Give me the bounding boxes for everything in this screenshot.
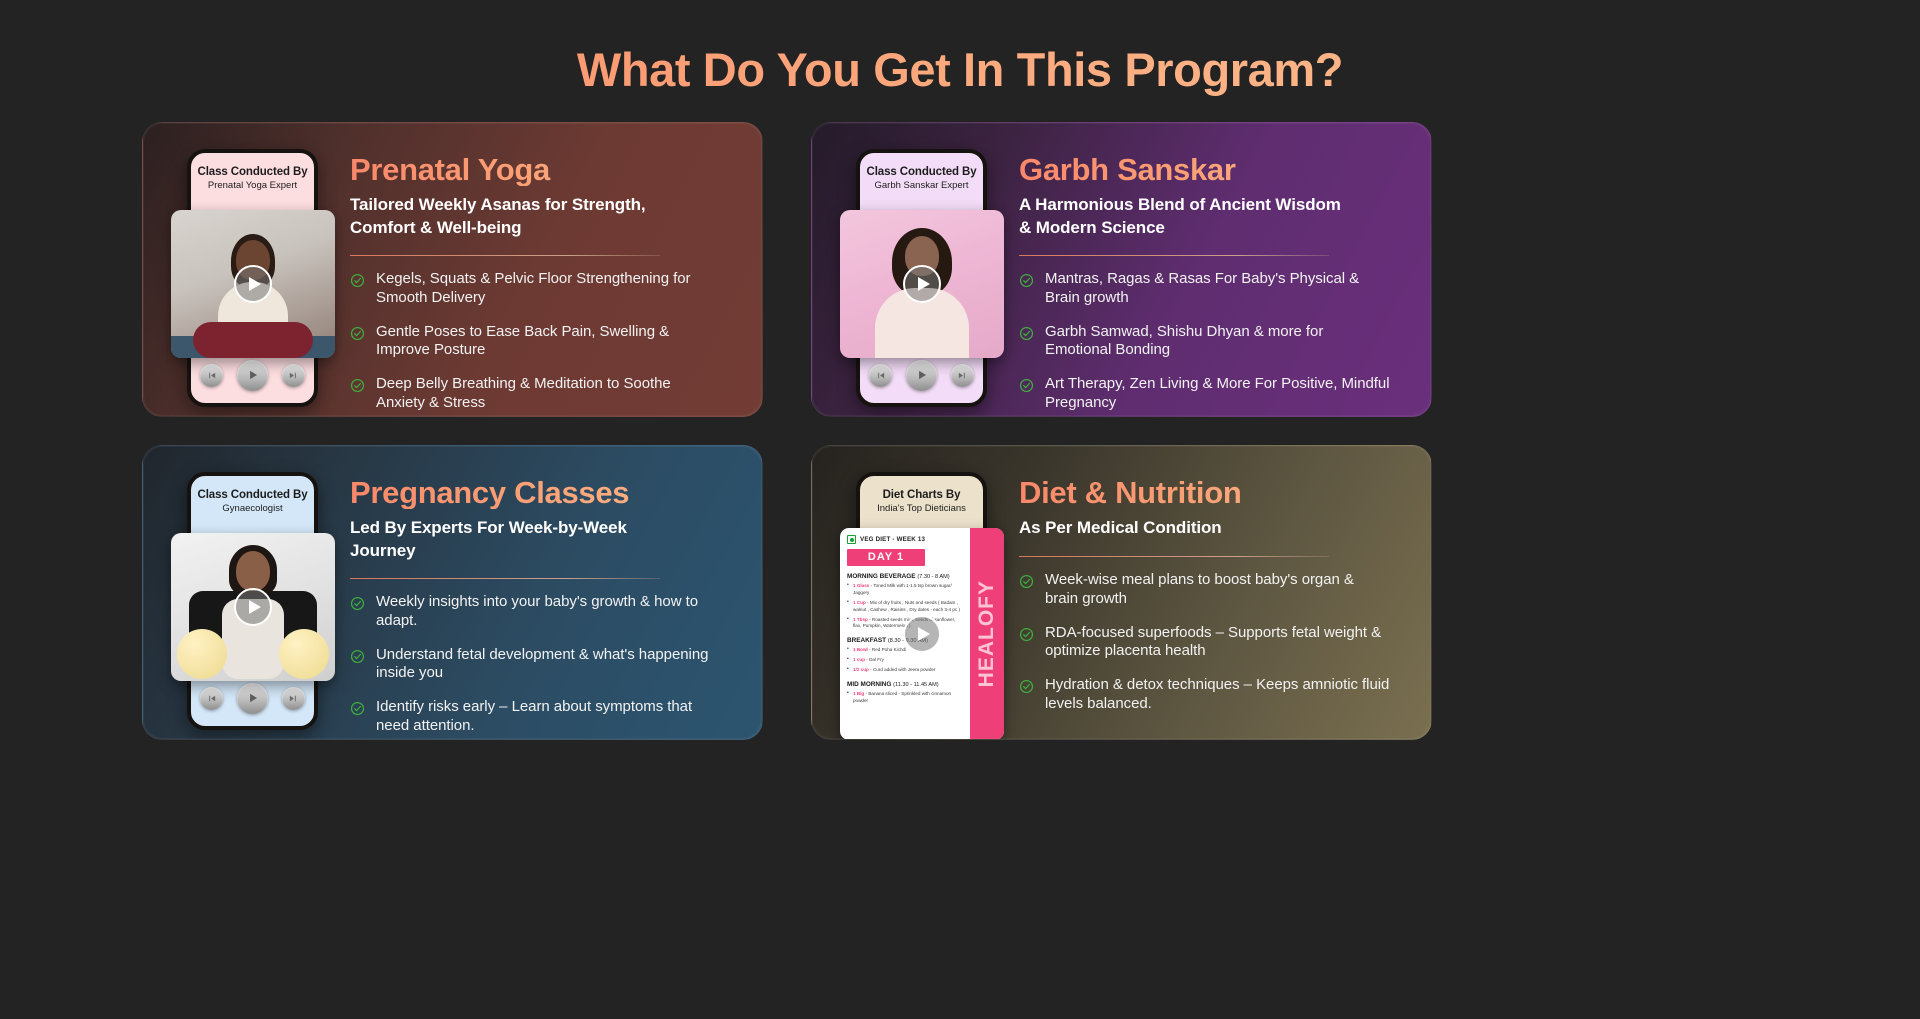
card-subtitle: As Per Medical Condition — [1019, 517, 1349, 539]
phone-header-line1: Class Conducted By — [191, 489, 314, 501]
card-subtitle: Tailored Weekly Asanas for Strength, Com… — [350, 194, 680, 238]
list-item: Week-wise meal plans to boost baby's org… — [1019, 571, 1405, 609]
phone-header-line1: Diet Charts By — [860, 489, 983, 501]
card-diet-nutrition[interactable]: Diet Charts By India's Top Dieticians VE… — [811, 445, 1432, 740]
check-circle-icon — [1019, 378, 1034, 393]
check-circle-icon — [350, 596, 365, 611]
meal-desc: - Red Poha Kichdi — [869, 647, 906, 652]
card-prenatal-yoga[interactable]: Class Conducted By Prenatal Yoga Expert — [142, 122, 763, 417]
meal-qty: 1 Glass — [853, 583, 869, 588]
brand-label: HEALOFY — [975, 580, 999, 687]
card-title: Prenatal Yoga — [350, 153, 736, 186]
play-button-icon[interactable] — [903, 265, 941, 303]
meal-qty: 1 Bowl — [853, 647, 868, 652]
phone-mockup-diet-nutrition: Diet Charts By India's Top Dieticians VE… — [856, 472, 987, 730]
feature-list: Kegels, Squats & Pelvic Floor Strengthen… — [350, 270, 736, 413]
check-circle-icon — [350, 649, 365, 664]
meal-qty: 1 Cup — [853, 600, 866, 605]
card-garbh-sanskar[interactable]: Class Conducted By Garbh Sanskar Expert — [811, 122, 1432, 417]
next-track-icon[interactable] — [282, 364, 305, 387]
phone-header-line1: Class Conducted By — [191, 166, 314, 178]
check-circle-icon — [1019, 679, 1034, 694]
phone-header: Class Conducted By Garbh Sanskar Expert — [860, 153, 983, 191]
figure-head — [236, 551, 270, 591]
meal-qty: 1/2 cup — [853, 667, 869, 672]
meal-qty: 1 Big — [853, 691, 864, 696]
page-title: What Do You Get In This Program? — [0, 0, 1920, 97]
previous-track-icon[interactable] — [200, 364, 223, 387]
card-text-column: Prenatal Yoga Tailored Weekly Asanas for… — [318, 123, 762, 413]
video-thumbnail-prenatal-yoga[interactable] — [171, 210, 335, 358]
media-controls[interactable] — [191, 676, 314, 720]
phone-header-line2: Gynaecologist — [191, 503, 314, 514]
meal-section-time: (7.30 - 8 AM) — [917, 574, 949, 580]
card-subtitle: A Harmonious Blend of Ancient Wisdom & M… — [1019, 194, 1349, 238]
check-circle-icon — [350, 701, 365, 716]
check-circle-icon — [350, 326, 365, 341]
previous-track-icon[interactable] — [200, 687, 223, 710]
list-item: Mantras, Ragas & Rasas For Baby's Physic… — [1019, 270, 1405, 308]
phone-header-line2: Garbh Sanskar Expert — [860, 180, 983, 191]
list-item-label: Garbh Samwad, Shishu Dhyan & more for Em… — [1045, 323, 1390, 361]
meal-section-heading: MORNING BEVERAGE (7.30 - 8 AM) — [847, 573, 964, 580]
list-item: Understand fetal development & what's ha… — [350, 646, 736, 684]
phone-header: Class Conducted By Gynaecologist — [191, 476, 314, 514]
card-pregnancy-classes[interactable]: Class Conducted By Gynaecologist — [142, 445, 763, 740]
anatomical-model-left — [177, 629, 227, 679]
card-text-column: Garbh Sanskar A Harmonious Blend of Anci… — [987, 123, 1431, 413]
list-item-label: Art Therapy, Zen Living & More For Posit… — [1045, 375, 1390, 413]
meal-item: 1/2 cup - Curd added with Jeera powder — [847, 667, 964, 674]
divider — [1019, 255, 1329, 257]
list-item-label: Kegels, Squats & Pelvic Floor Strengthen… — [376, 270, 721, 308]
check-circle-icon — [1019, 627, 1034, 642]
divider — [350, 578, 660, 580]
play-button-icon[interactable] — [234, 265, 272, 303]
check-circle-icon — [1019, 574, 1034, 589]
play-icon[interactable] — [237, 683, 268, 714]
veg-diet-row: VEG DIET - WEEK 13 — [847, 535, 964, 544]
list-item: RDA-focused superfoods – Supports fetal … — [1019, 624, 1405, 662]
meal-section-heading: MID MORNING (11.30 - 11.45 AM) — [847, 681, 964, 688]
list-item-label: Gentle Poses to Ease Back Pain, Swelling… — [376, 323, 721, 361]
anatomical-model-right — [279, 629, 329, 679]
feature-list: Week-wise meal plans to boost baby's org… — [1019, 571, 1405, 714]
list-item-label: Weekly insights into your baby's growth … — [376, 593, 721, 631]
list-item: Identify risks early – Learn about sympt… — [350, 698, 736, 736]
list-item-label: Identify risks early – Learn about sympt… — [376, 698, 721, 736]
veg-mark-icon — [847, 535, 856, 544]
phone-mockup-prenatal-yoga: Class Conducted By Prenatal Yoga Expert — [187, 149, 318, 407]
check-circle-icon — [350, 378, 365, 393]
program-cards-grid: Class Conducted By Prenatal Yoga Expert — [142, 122, 1782, 740]
phone-header-line2: Prenatal Yoga Expert — [191, 180, 314, 191]
phone-header: Class Conducted By Prenatal Yoga Expert — [191, 153, 314, 191]
list-item: Deep Belly Breathing & Meditation to Soo… — [350, 375, 736, 413]
play-button-icon[interactable] — [234, 588, 272, 626]
check-circle-icon — [1019, 326, 1034, 341]
phone-header-line2: India's Top Dieticians — [860, 503, 983, 514]
play-icon[interactable] — [237, 360, 268, 391]
video-thumbnail-pregnancy-classes[interactable] — [171, 533, 335, 681]
card-title: Diet & Nutrition — [1019, 476, 1405, 509]
list-item: Gentle Poses to Ease Back Pain, Swelling… — [350, 323, 736, 361]
play-button-icon[interactable] — [903, 615, 941, 653]
next-track-icon[interactable] — [282, 687, 305, 710]
next-track-icon[interactable] — [951, 364, 974, 387]
figure-legs — [193, 322, 313, 358]
list-item-label: Hydration & detox techniques – Keeps amn… — [1045, 676, 1390, 714]
day-badge: DAY 1 — [847, 549, 925, 566]
list-item-label: Understand fetal development & what's ha… — [376, 646, 721, 684]
feature-list: Mantras, Ragas & Rasas For Baby's Physic… — [1019, 270, 1405, 413]
phone-mockup-pregnancy-classes: Class Conducted By Gynaecologist — [187, 472, 318, 730]
list-item: Garbh Samwad, Shishu Dhyan & more for Em… — [1019, 323, 1405, 361]
meal-item: 1 Big - Banana sliced - Sprinkled with c… — [847, 691, 964, 705]
list-item-label: Mantras, Ragas & Rasas For Baby's Physic… — [1045, 270, 1390, 308]
meal-qty: 1 cup — [853, 657, 865, 662]
video-thumbnail-garbh-sanskar[interactable] — [840, 210, 1004, 358]
phone-header-line1: Class Conducted By — [860, 166, 983, 178]
media-controls[interactable] — [860, 353, 983, 397]
check-circle-icon — [1019, 273, 1034, 288]
card-text-column: Diet & Nutrition As Per Medical Conditio… — [987, 446, 1431, 714]
meal-section-name: BREAKFAST — [847, 637, 886, 644]
list-item: Weekly insights into your baby's growth … — [350, 593, 736, 631]
healofy-brand-strip: HEALOFY — [970, 528, 1004, 740]
divider — [1019, 556, 1329, 558]
list-item: Hydration & detox techniques – Keeps amn… — [1019, 676, 1405, 714]
phone-mockup-garbh-sanskar: Class Conducted By Garbh Sanskar Expert — [856, 149, 987, 407]
card-title: Pregnancy Classes — [350, 476, 736, 509]
diet-chart-sheet[interactable]: VEG DIET - WEEK 13 DAY 1 MORNING BEVERAG… — [840, 528, 1004, 740]
divider — [350, 255, 660, 257]
veg-diet-label: VEG DIET - WEEK 13 — [860, 536, 925, 543]
meal-section-name: MORNING BEVERAGE — [847, 573, 916, 580]
meal-desc: - Dal Fry — [866, 657, 884, 662]
previous-track-icon[interactable] — [869, 364, 892, 387]
meal-desc: - Banana sliced - Sprinkled with cinnamo… — [853, 691, 951, 703]
card-title: Garbh Sanskar — [1019, 153, 1405, 186]
phone-header: Diet Charts By India's Top Dieticians — [860, 476, 983, 514]
list-item-label: Deep Belly Breathing & Meditation to Soo… — [376, 375, 721, 413]
meal-item: 1 cup - Dal Fry — [847, 657, 964, 664]
media-controls[interactable] — [191, 353, 314, 397]
list-item-label: Week-wise meal plans to boost baby's org… — [1045, 571, 1390, 609]
meal-item: 1 Glass - Toned Milk with 1-1.5 tsp brow… — [847, 583, 964, 597]
meal-item: 1 Cup - Mix of dry fruits , Nuts and see… — [847, 600, 964, 614]
feature-list: Weekly insights into your baby's growth … — [350, 593, 736, 736]
list-item: Kegels, Squats & Pelvic Floor Strengthen… — [350, 270, 736, 308]
play-icon[interactable] — [906, 360, 937, 391]
meal-desc: - Curd added with Jeera powder — [870, 667, 935, 672]
list-item-label: RDA-focused superfoods – Supports fetal … — [1045, 624, 1390, 662]
meal-section-name: MID MORNING — [847, 681, 891, 688]
list-item: Art Therapy, Zen Living & More For Posit… — [1019, 375, 1405, 413]
meal-section-time: (11.30 - 11.45 AM) — [893, 682, 939, 688]
meal-qty: 1 Tbsp — [853, 617, 868, 622]
card-subtitle: Led By Experts For Week-by-Week Journey — [350, 517, 680, 561]
card-text-column: Pregnancy Classes Led By Experts For Wee… — [318, 446, 762, 736]
check-circle-icon — [350, 273, 365, 288]
meal-desc: - Mix of dry fruits , Nuts and seeds ( B… — [853, 600, 960, 612]
meal-item: 1 Bowl - Red Poha Kichdi — [847, 647, 964, 654]
